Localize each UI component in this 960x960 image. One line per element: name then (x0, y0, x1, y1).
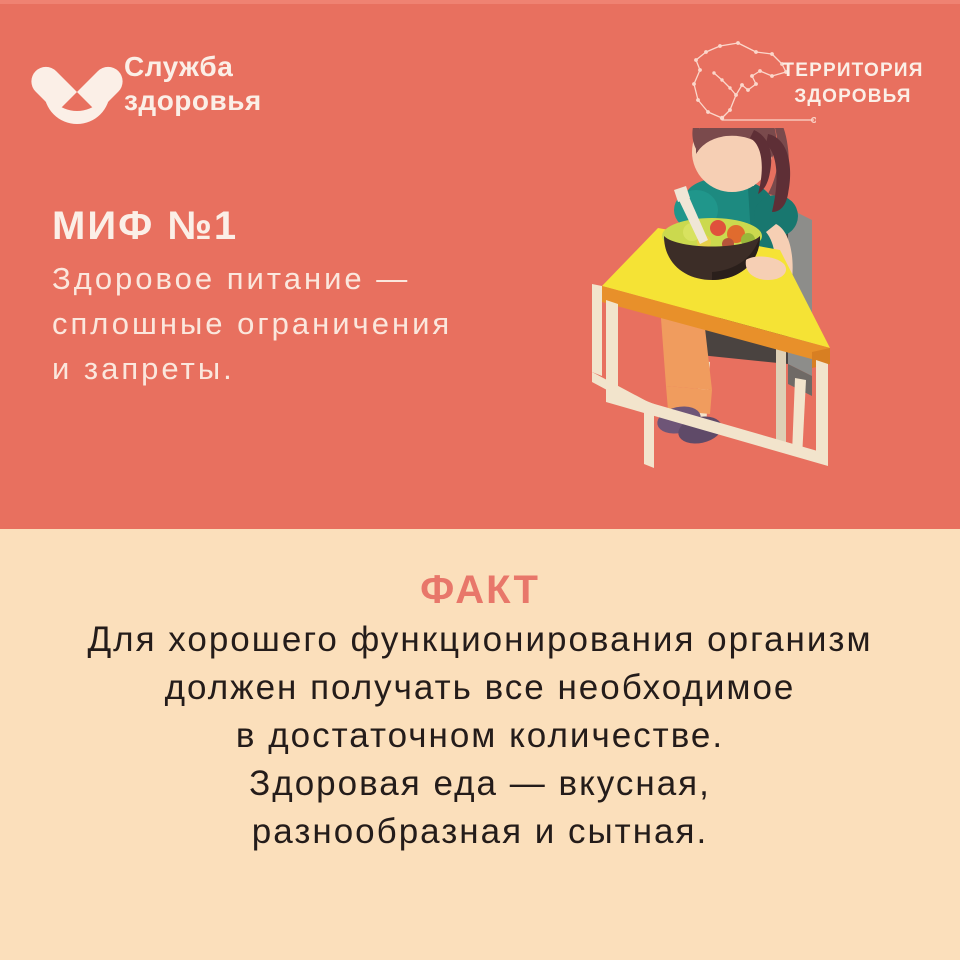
smile-arc-icon (44, 90, 110, 124)
illustration-svg (540, 128, 940, 508)
territory-logo: ТЕРРИТОРИЯ ЗДОРОВЬЯ (686, 40, 922, 128)
infographic-poster: Служба здоровья (0, 0, 960, 960)
brand-logo-line1: Служба (124, 50, 262, 84)
fact-heading: ФАКТ (0, 566, 960, 614)
fact-body: Для хорошего функционирования организм д… (30, 616, 930, 856)
territory-logo-text: ТЕРРИТОРИЯ ЗДОРОВЬЯ (782, 58, 924, 110)
illustration-woman-eating (540, 128, 940, 508)
myth-block: МИФ №1 Здоровое питание — сплошные огран… (52, 202, 522, 391)
territory-logo-line2: ЗДОРОВЬЯ (782, 84, 924, 110)
heart-smile-icon (42, 46, 112, 122)
brand-logo-text: Служба здоровья (124, 50, 262, 118)
myth-label: МИФ №1 (52, 202, 522, 250)
brand-logo: Служба здоровья (42, 46, 342, 126)
heart-icon (48, 48, 106, 94)
myth-text: Здоровое питание — сплошные ограничения … (52, 256, 522, 391)
top-hairline (0, 0, 960, 4)
territory-logo-line1: ТЕРРИТОРИЯ (782, 58, 924, 84)
brand-logo-line2: здоровья (124, 84, 262, 118)
